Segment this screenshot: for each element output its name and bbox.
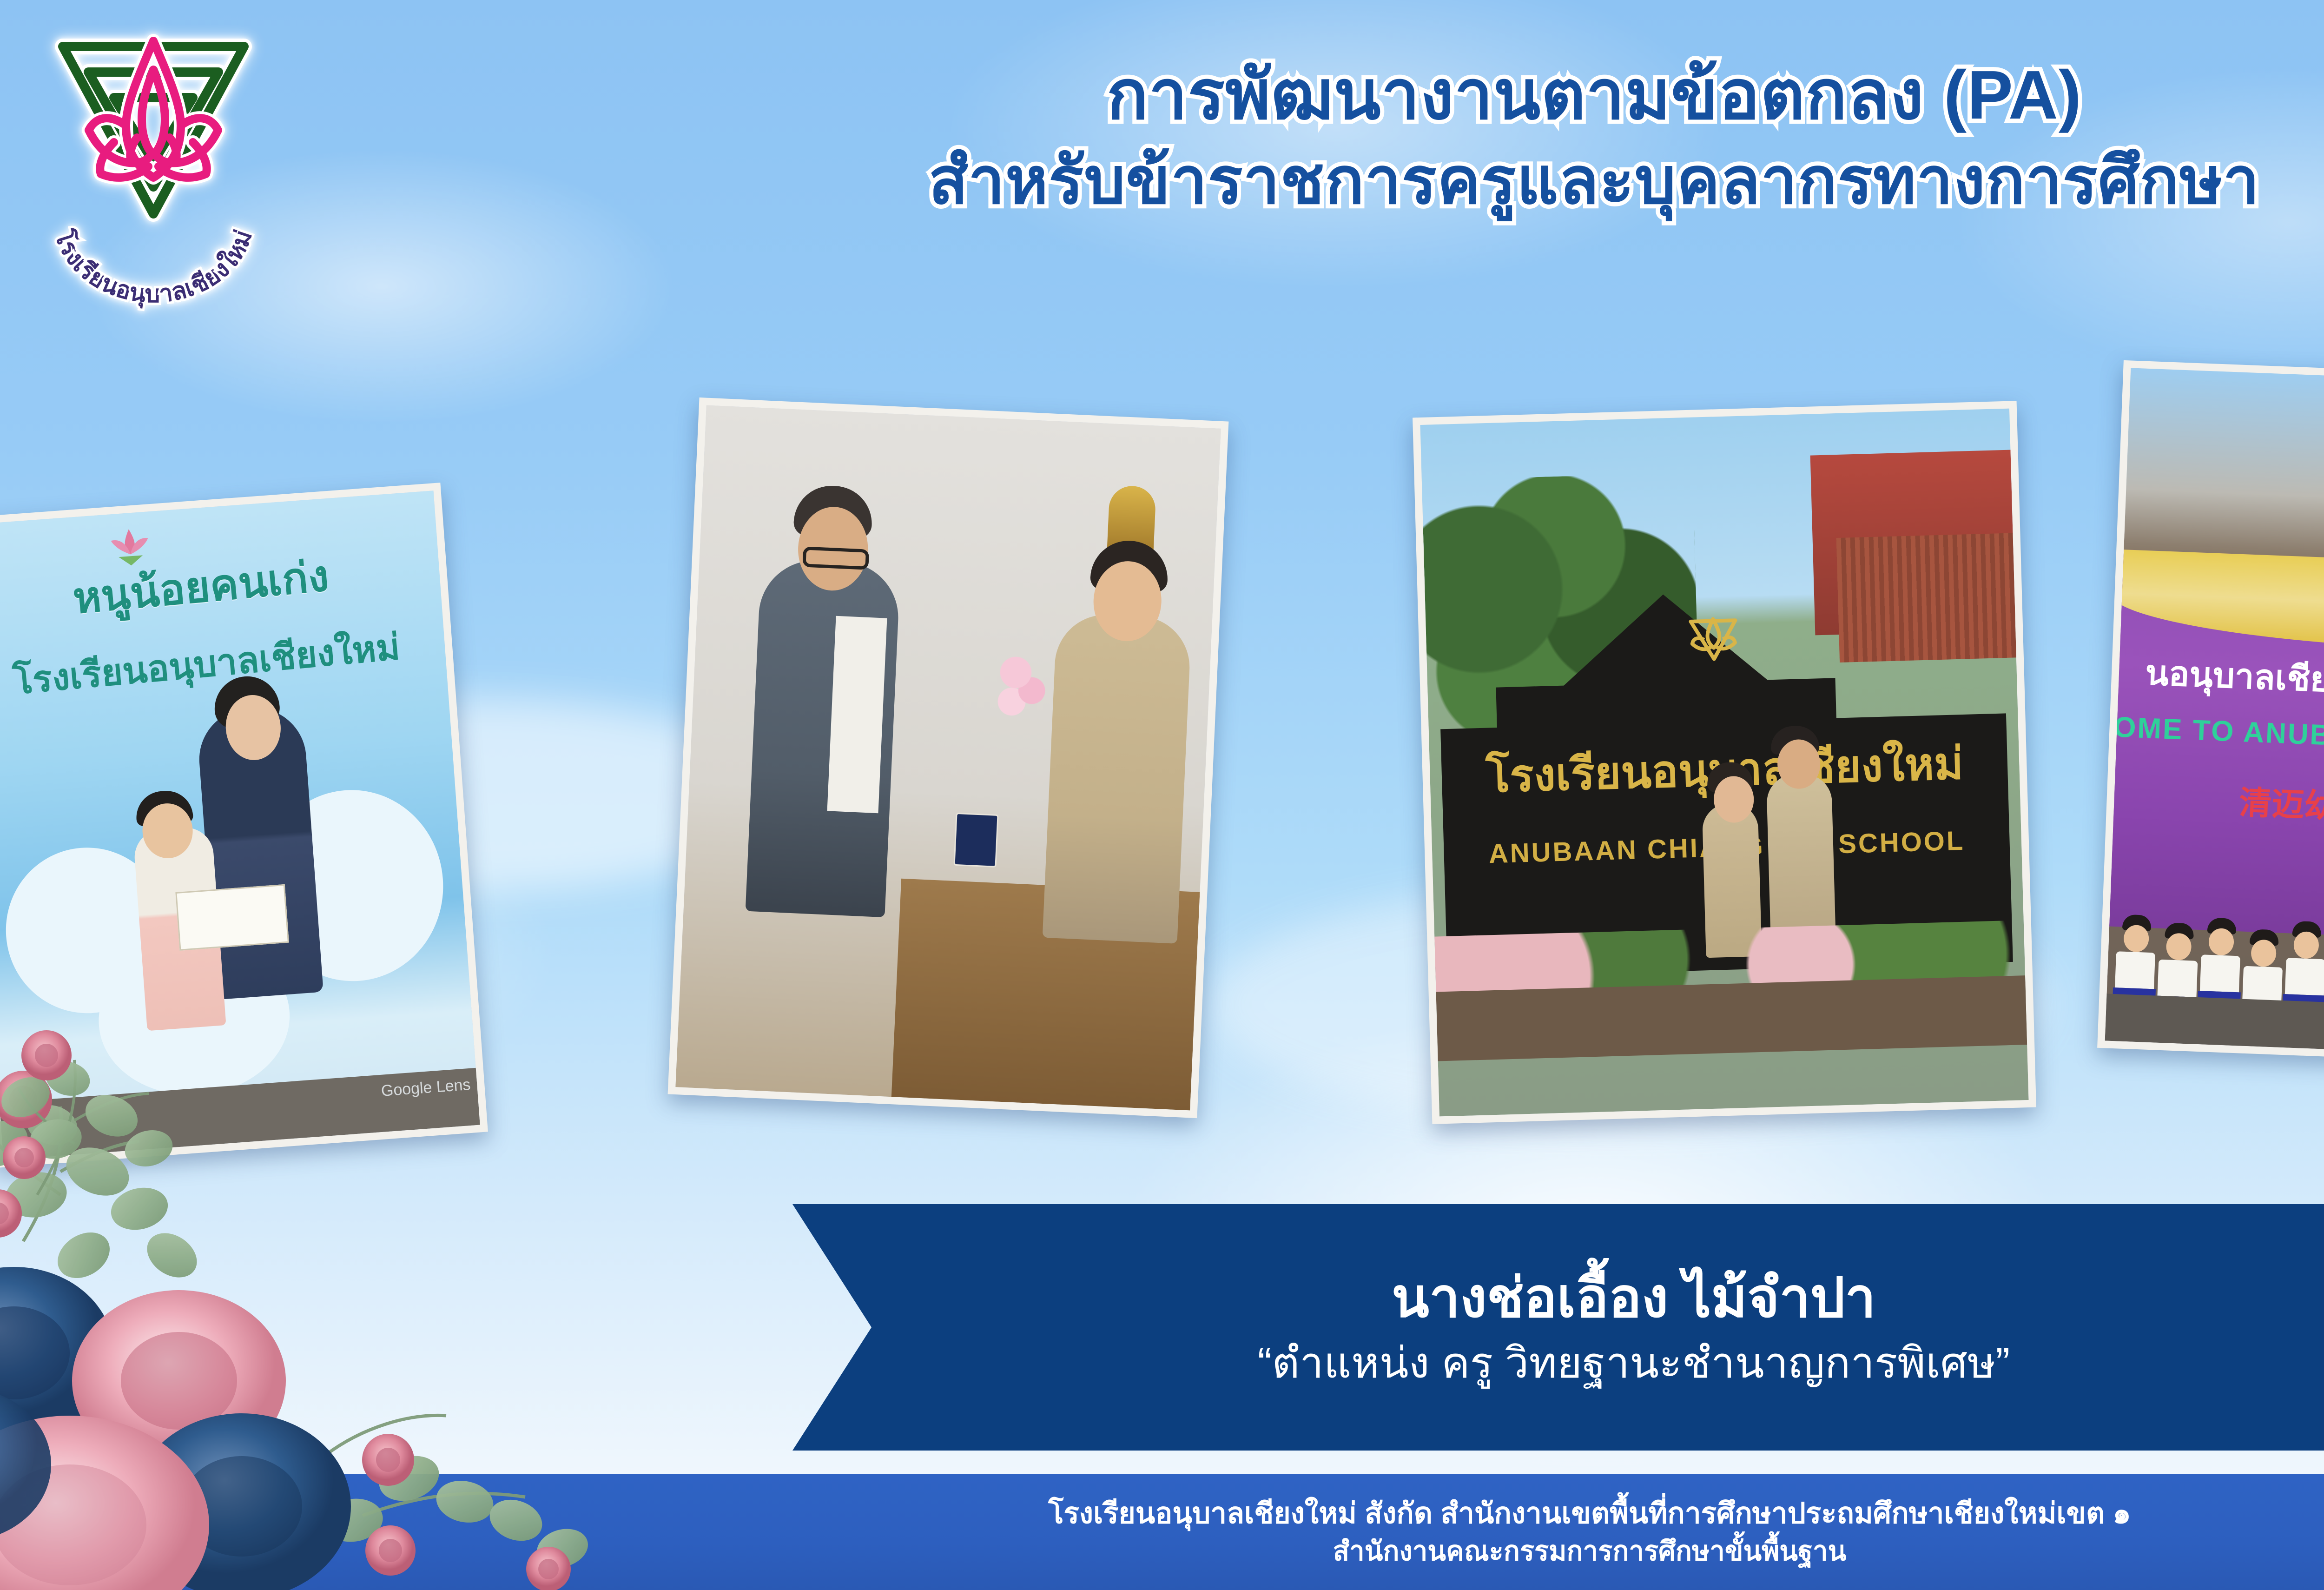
roof-tiles [1836, 533, 2016, 662]
person-director [1766, 773, 1836, 947]
eyeglasses [802, 546, 869, 570]
logo-arc-text: โรงเรียนอนุบาลเชียงใหม่ [44, 130, 263, 353]
photo-medal-presentation[interactable] [668, 397, 1229, 1118]
title-line-1: การพัฒนางานตามข้อตกลง (PA) [521, 51, 2324, 139]
photo-scene [675, 405, 1221, 1111]
photo-scene: โรงเรียนอนุบาลเชียงใหม่ ANUBAAN CHIANG M… [1420, 409, 2028, 1117]
footer-line-1: โรงเรียนอนุบาลเชียงใหม่ สังกัด สำนักงานเ… [1048, 1494, 2131, 1533]
photo-scene: หนูน้อยคนเก่ง โรงเรียนอนุบาลเชียงใหม่ Go… [0, 490, 480, 1160]
person-teacher [1042, 612, 1191, 943]
shirt [827, 616, 887, 814]
teacher-name: นางช่อเอื้อง ไม้จำปา [1392, 1265, 1876, 1332]
title-line-2: สำหรับข้าราชการครูและบุคลากรทางการศึกษา [521, 139, 2324, 222]
svg-text:โรงเรียนอนุบาลเชียงใหม่: โรงเรียนอนุบาลเชียงใหม่ [49, 226, 257, 309]
teacher-position: “ตำแหน่ง ครู วิทยฐานะชำนาญการพิเศษ” [1258, 1337, 2010, 1390]
ribbon-text-group: นางช่อเอื้อง ไม้จำปา “ตำแหน่ง ครู วิทยฐา… [792, 1204, 2324, 1451]
photo-award-ceremony-child[interactable]: หนูน้อยคนเก่ง โรงเรียนอนุบาลเชียงใหม่ Go… [0, 483, 488, 1168]
photo-school-entrance-sign[interactable]: โรงเรียนอนุบาลเชียงใหม่ ANUBAAN CHIANG M… [1413, 401, 2036, 1124]
certificate [175, 884, 289, 951]
school-logo: โรงเรียนอนุบาลเชียงใหม่ [44, 14, 263, 237]
footer-line-2: สำนักงานคณะกรรมการการศึกษาขั้นพื้นฐาน [1333, 1533, 1847, 1570]
page-title: การพัฒนางานตามข้อตกลง (PA) สำหรับข้าราชก… [521, 51, 2324, 223]
orchid-flowers [991, 650, 1050, 722]
photo-scene: นอนุบาลเชียงใหม่ ยินดีต้อนรับทุกท่าน OME… [2105, 368, 2324, 1064]
photo-students-welcome-banner[interactable]: นอนุบาลเชียงใหม่ ยินดีต้อนรับทุกท่าน OME… [2097, 360, 2324, 1072]
footer-bar: โรงเรียนอนุบาลเชียงใหม่ สังกัด สำนักงานเ… [0, 1474, 2324, 1590]
school-emblem-icon [1685, 610, 1742, 667]
medal-box [954, 813, 999, 868]
